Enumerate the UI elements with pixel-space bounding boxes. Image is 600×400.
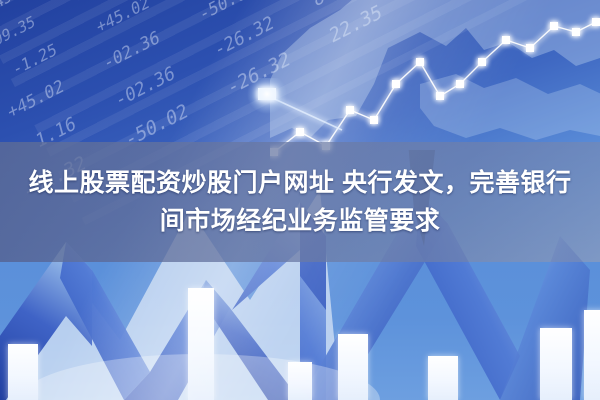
headline-line-2: 间市场经纪业务监管要求 bbox=[160, 202, 441, 240]
headline-line-1: 线上股票配资炒股门户网址 央行发文，完善银行 bbox=[29, 164, 572, 202]
headline-overlay-band: 线上股票配资炒股门户网址 央行发文，完善银行 间市场经纪业务监管要求 bbox=[0, 142, 600, 262]
stock-news-banner: -09.35 -11.25 +45.02 21.05 +45.02 -02.36… bbox=[0, 0, 600, 400]
